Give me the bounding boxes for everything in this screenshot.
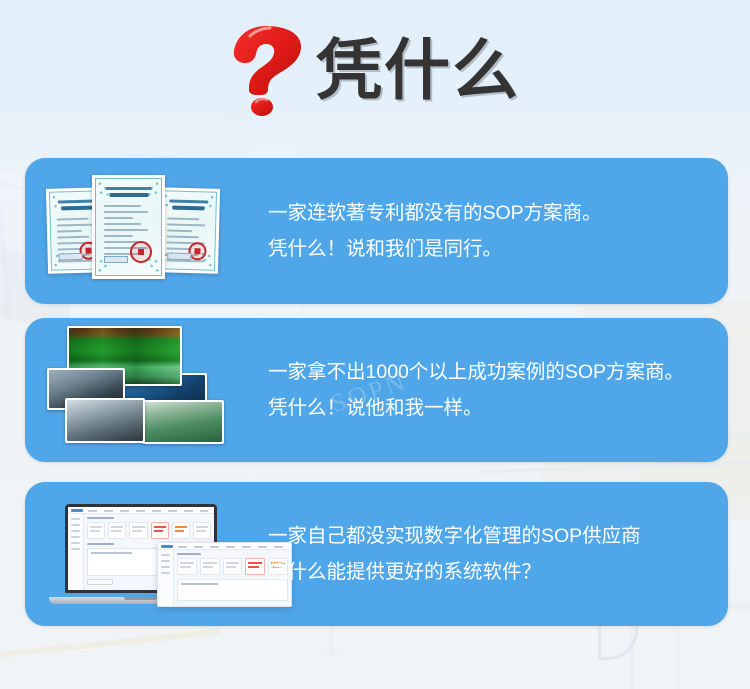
- section-label: [177, 553, 201, 555]
- certificate-image-right: [156, 187, 220, 274]
- metric-tile-row: [87, 522, 211, 539]
- case-photos-collage: [47, 318, 262, 462]
- metric-tile-alert: [151, 522, 169, 539]
- software-screenshot-group: [47, 482, 262, 626]
- feature-card-software[interactable]: 一家自己都没实现数字化管理的SOP供应商 凭什么能提供更好的系统软件？: [25, 482, 728, 626]
- card-line: 凭什么！说和我们是同行。: [268, 231, 602, 267]
- metric-tile: [223, 558, 243, 575]
- case-photo: [65, 398, 145, 443]
- case-photo: [142, 400, 224, 444]
- app-top-navbar: [68, 507, 214, 514]
- metric-tile: [108, 522, 126, 539]
- certificates-image-group: [47, 158, 262, 304]
- metric-tile: [87, 522, 105, 539]
- card-line: 凭什么！说他和我一样。: [268, 390, 684, 426]
- feature-card-cases[interactable]: 一家拿不出1000个以上成功案例的SOP方案商。 凭什么！说他和我一样。: [25, 318, 728, 462]
- app-sidebar: [68, 514, 84, 590]
- card-text-certificates: 一家连软著专利都没有的SOP方案商。 凭什么！说和我们是同行。: [268, 195, 602, 267]
- certificate-image-center: [92, 175, 165, 279]
- metric-tile: [200, 558, 220, 575]
- metric-tile: [193, 522, 211, 539]
- metric-tile: [177, 558, 197, 575]
- metric-tile: [129, 522, 147, 539]
- metric-tile-warning: [172, 522, 190, 539]
- page-title: 凭什么: [316, 37, 520, 103]
- metric-tile-alert: [245, 558, 265, 575]
- feature-card-certificates[interactable]: 一家连软著专利都没有的SOP方案商。 凭什么！说和我们是同行。: [25, 158, 728, 304]
- card-line: 一家拿不出1000个以上成功案例的SOP方案商。: [268, 354, 684, 390]
- question-mark-icon: [230, 24, 304, 116]
- app-sidebar: [158, 550, 174, 606]
- card-line: 一家自己都没实现数字化管理的SOP供应商: [268, 518, 641, 554]
- card-text-software: 一家自己都没实现数字化管理的SOP供应商 凭什么能提供更好的系统软件？: [268, 518, 641, 590]
- card-line: 一家连软著专利都没有的SOP方案商。: [268, 195, 602, 231]
- card-text-cases: 一家拿不出1000个以上成功案例的SOP方案商。 凭什么！说他和我一样。: [268, 354, 684, 426]
- card-line: 凭什么能提供更好的系统软件？: [268, 554, 641, 590]
- panel-button[interactable]: [87, 579, 113, 585]
- section-label: [87, 543, 114, 545]
- section-label: [87, 517, 114, 519]
- page-header: 凭什么: [0, 0, 750, 140]
